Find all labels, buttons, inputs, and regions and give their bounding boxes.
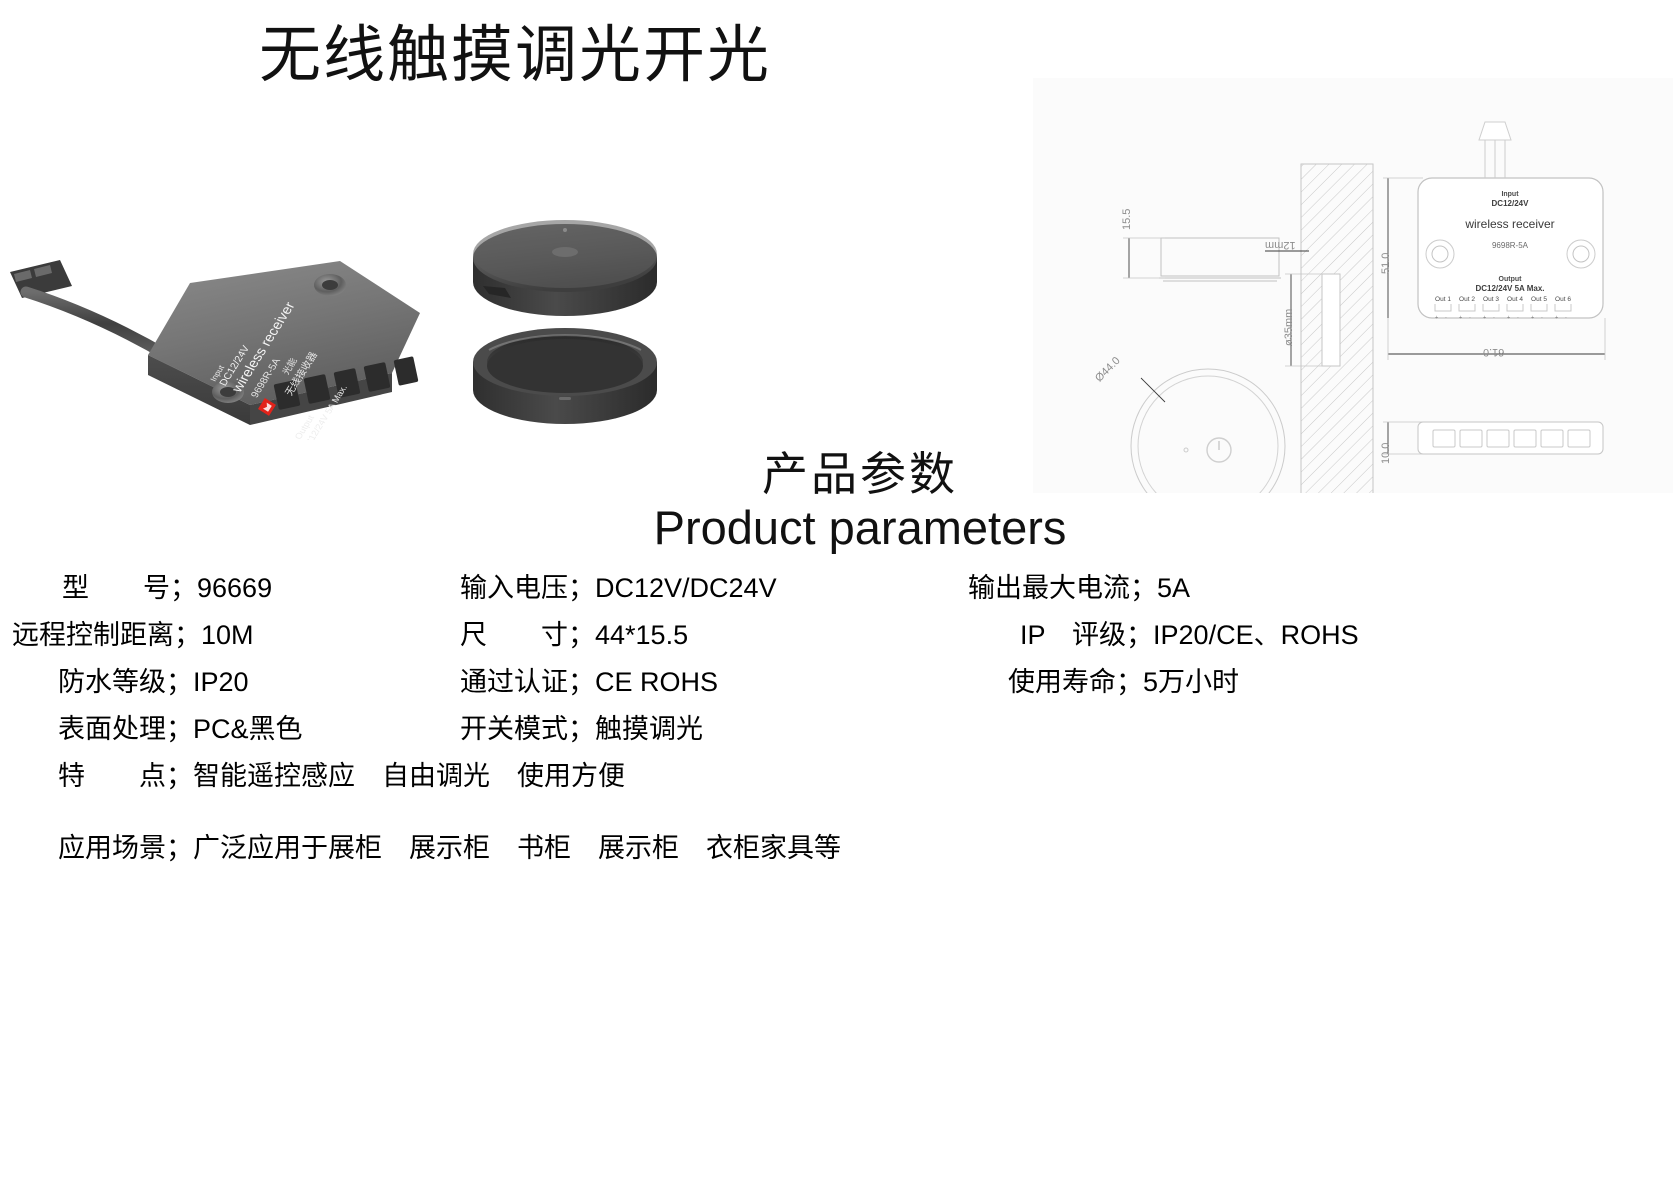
svg-text:-: - xyxy=(1445,315,1447,321)
param-certification: 通过认证；CE ROHS xyxy=(440,666,960,698)
param-input-voltage: 输入电压；DC12V/DC24V xyxy=(440,572,960,604)
svg-text:+: + xyxy=(1507,315,1510,321)
svg-text:-: - xyxy=(1469,315,1471,321)
drawing-port-6: Out 6 xyxy=(1555,296,1571,303)
svg-text:-: - xyxy=(1517,315,1519,321)
drawing-port-2: Out 2 xyxy=(1459,296,1475,303)
param-features: 特 点；智能遥控感应 自由调光 使用方便 xyxy=(0,760,498,792)
sensor-power-button xyxy=(552,247,578,257)
param-model: 型 号；96669 xyxy=(0,572,502,604)
param-waterproof-rating: 防水等级；IP20 xyxy=(0,666,498,698)
svg-text:-: - xyxy=(1493,315,1495,321)
receiver-edge-view xyxy=(1383,422,1603,454)
param-dimensions: 尺 寸；44*15.5 xyxy=(440,619,960,651)
dim-label-hole-diameter: ø35mm xyxy=(1283,309,1295,346)
input-cable xyxy=(26,292,168,356)
param-control-distance: 远程控制距离；10M xyxy=(0,619,452,651)
drawing-port-3: Out 3 xyxy=(1483,296,1499,303)
params-heading-en: Product parameters xyxy=(560,500,1160,555)
svg-text:+: + xyxy=(1459,315,1462,321)
technical-drawing-panel: Input DC12/24V wireless receiver 9698R-5… xyxy=(1033,78,1673,493)
dim-label-panel-thickness: 12mm xyxy=(1265,239,1296,251)
touch-sensor-product-photo xyxy=(455,190,685,450)
sensor-led-indicator xyxy=(563,228,567,232)
power-symbol-icon xyxy=(1207,438,1231,462)
dimension-receiver-51 xyxy=(1383,178,1423,318)
receiver-product-photo: Input DC12/24V wireless receiver 9698R-5… xyxy=(0,120,460,440)
param-max-output-current: 输出最大电流；5A xyxy=(940,572,1668,604)
sensor-side-elevation xyxy=(1159,238,1281,281)
dim-label-receiver-depth: 10.0 xyxy=(1380,443,1392,464)
sensor-head xyxy=(473,220,657,316)
param-service-life: 使用寿命；5万小时 xyxy=(940,666,1680,698)
drawing-port-1: Out 1 xyxy=(1435,296,1451,303)
svg-text:+: + xyxy=(1555,315,1558,321)
param-ip-rating: IP 评级；IP20/CE、ROHS xyxy=(940,619,1680,651)
sensor-mounting-ring xyxy=(473,328,657,424)
svg-text:+: + xyxy=(1531,315,1534,321)
drawing-input-label: Input xyxy=(1501,191,1519,198)
dim-label-receiver-height: 51.0 xyxy=(1380,253,1392,274)
dimension-height-15-5 xyxy=(1123,238,1165,278)
screw-hole-top-inner xyxy=(322,280,338,290)
drawing-receiver-title: wireless receiver xyxy=(1464,217,1554,231)
param-surface-finish: 表面处理；PC&黑色 xyxy=(0,713,498,745)
dim-label-receiver-width: 61.0 xyxy=(1483,346,1504,358)
wall-section xyxy=(1301,164,1373,493)
svg-text:+: + xyxy=(1483,315,1486,321)
receiver-outline-drawing: Input DC12/24V wireless receiver 9698R-5… xyxy=(1418,122,1603,321)
drawing-port-5: Out 5 xyxy=(1531,296,1547,303)
drawing-output-label: Output xyxy=(1499,276,1523,283)
drawing-input-voltage: DC12/24V xyxy=(1492,199,1530,208)
param-switch-mode: 开关模式；触摸调光 xyxy=(440,713,960,745)
svg-text:-: - xyxy=(1541,315,1543,321)
page-title: 无线触摸调光开光 xyxy=(0,22,1030,90)
params-heading-cn: 产品参数 xyxy=(560,438,1160,504)
param-application-scenarios: 应用场景；广泛应用于展柜 展示柜 书柜 展示柜 衣柜家具等 xyxy=(0,832,1458,864)
drawing-model-code: 9698R-5A xyxy=(1492,241,1529,250)
drawing-port-4: Out 4 xyxy=(1507,296,1523,303)
dim-label-height: 15.5 xyxy=(1121,209,1133,230)
drawing-output-spec: DC12/24V 5A Max. xyxy=(1475,284,1544,293)
svg-text:-: - xyxy=(1565,315,1567,321)
svg-text:+: + xyxy=(1435,315,1438,321)
